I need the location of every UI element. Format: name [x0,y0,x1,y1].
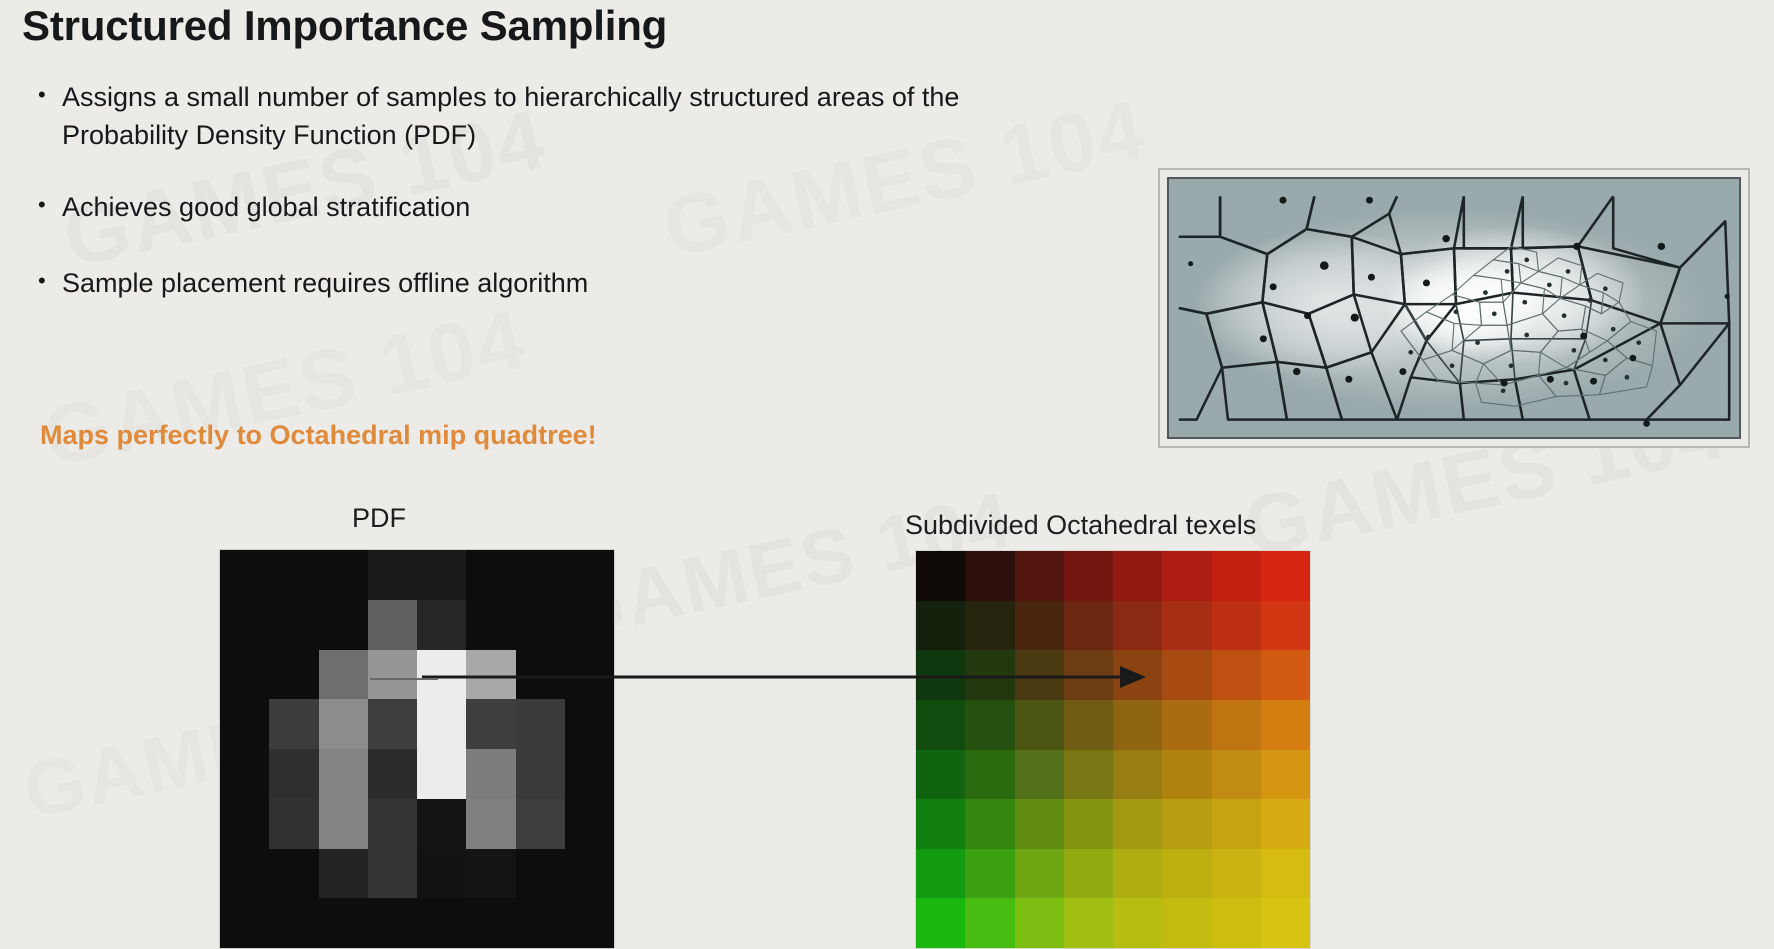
octahedral-texel-cell [1212,898,1261,948]
octahedral-texel-cell [1064,601,1113,651]
octahedral-texel-cell [1212,601,1261,651]
octahedral-texel-cell [965,750,1014,800]
octahedral-texel-cell [916,700,965,750]
octahedral-texel-cell [1261,849,1310,899]
voronoi-inner-frame [1167,177,1741,439]
octahedral-texel-cell [1064,551,1113,601]
pdf-texel-cell [466,749,515,799]
pdf-texel-cell [417,699,466,749]
bullet-marker-icon: • [36,188,62,222]
octahedral-texel-cell [1113,898,1162,948]
voronoi-diagram-svg [1169,179,1739,437]
mapping-arrow-icon [420,655,1150,705]
pdf-texel-cell [516,699,565,749]
bullet-marker-icon: • [36,264,62,298]
octahedral-texel-cell [1113,700,1162,750]
pdf-texel-cell [565,849,614,899]
octahedral-texel-cell [1015,898,1064,948]
octahedral-texel-cell [1261,601,1310,651]
octahedral-texel-cell [965,551,1014,601]
pdf-texel-cell [516,550,565,600]
pdf-texel-cell [269,550,318,600]
octahedral-texel-cell [1113,551,1162,601]
pdf-texel-cell [368,849,417,899]
pdf-texel-cell [269,699,318,749]
pdf-texel-cell [319,550,368,600]
pdf-texel-cell [368,799,417,849]
pdf-texel-cell [319,600,368,650]
octahedral-texel-cell [1015,700,1064,750]
octahedral-texel-cell [1162,898,1211,948]
pdf-texel-cell [319,898,368,948]
pdf-texel-cell [220,849,269,899]
octahedral-texel-cell [965,700,1014,750]
octahedral-texel-cell [1113,799,1162,849]
octahedral-texel-cell [1015,601,1064,651]
list-item: • Achieves good global stratification [36,188,1036,226]
octahedral-texel-cell [1064,700,1113,750]
pdf-texel-cell [319,849,368,899]
octahedral-texel-cell [1064,849,1113,899]
pdf-texel-cell [269,898,318,948]
octahedral-texel-cell [1162,700,1211,750]
pdf-texel-cell [466,699,515,749]
pdf-texel-cell [466,550,515,600]
octahedral-texel-cell [1162,750,1211,800]
octahedral-texel-cell [916,551,965,601]
octahedral-texel-cell [1162,650,1211,700]
pdf-texel-cell [516,849,565,899]
pdf-texel-cell [516,600,565,650]
pdf-texel-cell [220,799,269,849]
octahedral-texel-cell [965,601,1014,651]
pdf-texel-cell [516,749,565,799]
bullet-marker-icon: • [36,78,62,112]
pdf-texel-cell [466,898,515,948]
pdf-texel-cell [466,600,515,650]
octahedral-texel-cell [1162,849,1211,899]
octahedral-texel-cell [1212,750,1261,800]
octahedral-texel-cell [1064,898,1113,948]
pdf-texel-cell [368,550,417,600]
octahedral-texel-cell [1162,551,1211,601]
octahedral-texel-cell [1212,650,1261,700]
pdf-texel-cell [565,898,614,948]
bullet-text: Achieves good global stratification [62,188,470,226]
octahedral-texel-cell [1212,799,1261,849]
slide-canvas: GAMES 104 GAMES 104 GAMES 104 GAMES 104 … [0,0,1774,949]
pdf-texel-cell [269,749,318,799]
pdf-texel-cell [565,550,614,600]
pdf-texel-cell [269,849,318,899]
pdf-texel-cell [368,600,417,650]
texel-figure-label: Subdivided Octahedral texels [905,510,1256,541]
octahedral-texel-cell [1261,700,1310,750]
pdf-texel-cell [269,799,318,849]
octahedral-texel-cell [965,898,1014,948]
pdf-texel-cell [368,749,417,799]
bullet-text: Sample placement requires offline algori… [62,264,588,302]
octahedral-texel-cell [1113,750,1162,800]
pdf-texel-cell [417,749,466,799]
octahedral-texel-cell [965,849,1014,899]
pdf-texel-cell [319,749,368,799]
pdf-heatmap-grid [219,549,615,949]
pdf-texel-cell [466,799,515,849]
bullet-text: Assigns a small number of samples to hie… [62,78,1036,154]
octahedral-texel-cell [1015,799,1064,849]
slide-title: Structured Importance Sampling [22,2,667,50]
pdf-texel-cell [417,550,466,600]
octahedral-texel-cell [1162,601,1211,651]
octahedral-texel-cell [1113,849,1162,899]
pdf-texel-cell [417,799,466,849]
pdf-texel-cell [319,699,368,749]
octahedral-texel-cell [1015,750,1064,800]
list-item: • Sample placement requires offline algo… [36,264,1036,302]
octahedral-texel-cell [1261,650,1310,700]
pdf-texel-cell [368,650,417,700]
pdf-texel-cell [220,600,269,650]
callout-text: Maps perfectly to Octahedral mip quadtre… [40,420,597,451]
pdf-texel-cell [565,799,614,849]
pdf-texel-cell [417,849,466,899]
octahedral-texel-cell [1162,799,1211,849]
octahedral-texel-cell [1212,700,1261,750]
octahedral-texel-cell [916,898,965,948]
octahedral-texel-cell [916,799,965,849]
octahedral-texel-cell [916,750,965,800]
voronoi-stratification-figure [1158,168,1750,448]
octahedral-texel-cell [1261,898,1310,948]
pdf-texel-cell [565,600,614,650]
pdf-texel-cell [269,650,318,700]
bullet-list: • Assigns a small number of samples to h… [36,78,1036,330]
pdf-texel-cell [220,550,269,600]
pdf-texel-cell [220,699,269,749]
octahedral-texel-cell [916,601,965,651]
pdf-texel-cell [417,600,466,650]
pdf-texel-cell [269,600,318,650]
pdf-texel-cell [220,898,269,948]
octahedral-texel-cell [1261,799,1310,849]
octahedral-texel-cell [1015,551,1064,601]
pdf-texel-cell [368,898,417,948]
octahedral-texel-cell [1015,849,1064,899]
octahedral-texel-grid [915,550,1311,949]
octahedral-texel-cell [1064,799,1113,849]
pdf-probe-line [370,678,438,680]
pdf-texel-cell [368,699,417,749]
octahedral-texel-cell [1261,750,1310,800]
pdf-texel-cell [516,898,565,948]
octahedral-texel-cell [1261,551,1310,601]
pdf-texel-cell [516,799,565,849]
pdf-texel-cell [319,650,368,700]
pdf-texel-cell [466,849,515,899]
pdf-figure-label: PDF [352,503,406,534]
octahedral-texel-cell [1064,750,1113,800]
octahedral-texel-cell [1212,849,1261,899]
octahedral-texel-cell [1113,601,1162,651]
octahedral-texel-cell [1212,551,1261,601]
octahedral-texel-cell [965,799,1014,849]
pdf-texel-cell [565,699,614,749]
pdf-texel-cell [417,898,466,948]
pdf-texel-cell [220,749,269,799]
list-item: • Assigns a small number of samples to h… [36,78,1036,154]
octahedral-texel-cell [916,849,965,899]
pdf-texel-cell [565,749,614,799]
pdf-texel-cell [220,650,269,700]
pdf-texel-cell [319,799,368,849]
